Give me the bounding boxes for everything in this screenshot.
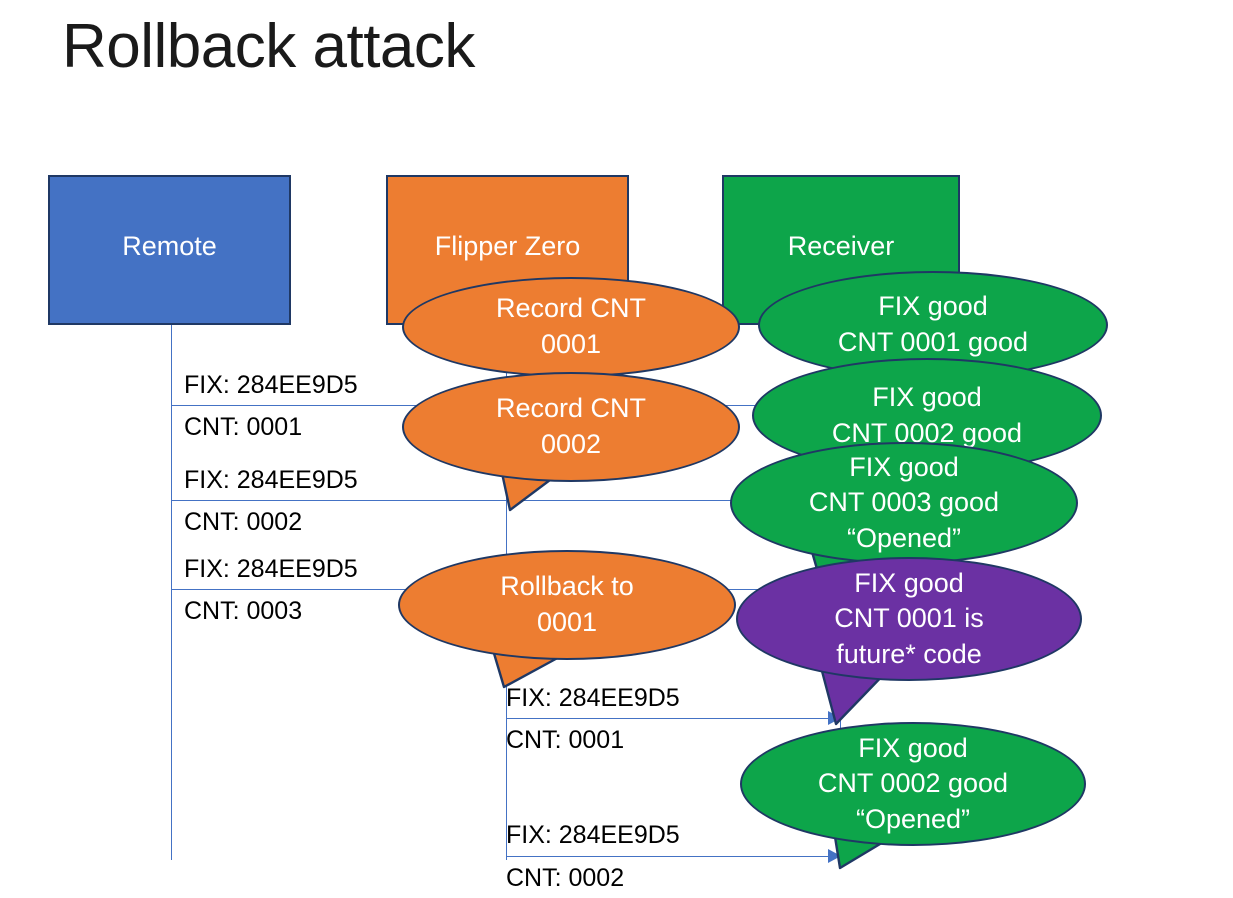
receiver-bubble-4-line-1: FIX good <box>854 566 964 602</box>
flipper-bubble-record-1[interactable]: Record CNT 0001 <box>402 277 740 377</box>
receiver-bubble-1-line-1: FIX good <box>878 289 988 325</box>
flipper-bubble-rollback-line-2: 0001 <box>537 605 597 641</box>
message-1-fix: FIX: 284EE9D5 <box>184 373 358 398</box>
receiver-bubble-2-line-1: FIX good <box>872 380 982 416</box>
message-2-fix: FIX: 284EE9D5 <box>184 468 358 493</box>
message-5-cnt: CNT: 0002 <box>506 866 624 891</box>
message-1-cnt: CNT: 0001 <box>184 415 302 440</box>
receiver-bubble-3-line-2: CNT 0003 good <box>809 485 999 521</box>
actor-label-flipper: Flipper Zero <box>435 233 581 260</box>
receiver-bubble-5-line-2: CNT 0002 good <box>818 766 1008 802</box>
receiver-bubble-3-line-3: “Opened” <box>847 521 961 557</box>
actor-box-remote[interactable]: Remote <box>48 175 291 325</box>
message-2-cnt: CNT: 0002 <box>184 510 302 535</box>
message-3-cnt: CNT: 0003 <box>184 599 302 624</box>
actor-label-remote: Remote <box>122 233 217 260</box>
flipper-bubble-record-1-line-1: Record CNT <box>496 291 646 327</box>
receiver-bubble-1-line-2: CNT 0001 good <box>838 325 1028 361</box>
receiver-bubble-5-line-3: “Opened” <box>856 802 970 838</box>
page-title: Rollback attack <box>62 10 475 84</box>
receiver-bubble-4[interactable]: FIX good CNT 0001 is future* code <box>736 557 1082 681</box>
receiver-bubble-3[interactable]: FIX good CNT 0003 good “Opened” <box>730 442 1078 564</box>
flipper-bubble-record-2[interactable]: Record CNT 0002 <box>402 372 740 482</box>
receiver-bubble-5-line-1: FIX good <box>858 731 968 767</box>
flipper-bubble-record-2-line-2: 0002 <box>541 427 601 463</box>
flipper-bubble-record-1-line-2: 0001 <box>541 327 601 363</box>
message-3-fix: FIX: 284EE9D5 <box>184 557 358 582</box>
slide-canvas: Rollback attack FIX: 284EE9D5 CNT: 0001 … <box>0 0 1233 898</box>
receiver-bubble-4-line-3: future* code <box>836 637 982 673</box>
message-5-fix: FIX: 284EE9D5 <box>506 823 680 848</box>
flipper-bubble-record-2-line-1: Record CNT <box>496 391 646 427</box>
flipper-bubble-rollback-line-1: Rollback to <box>500 569 634 605</box>
flipper-bubble-rollback[interactable]: Rollback to 0001 <box>398 550 736 660</box>
receiver-bubble-4-line-2: CNT 0001 is <box>834 601 984 637</box>
message-4-cnt: CNT: 0001 <box>506 728 624 753</box>
actor-label-receiver: Receiver <box>788 233 895 260</box>
receiver-bubble-3-line-1: FIX good <box>849 450 959 486</box>
receiver-bubble-5[interactable]: FIX good CNT 0002 good “Opened” <box>740 722 1086 846</box>
